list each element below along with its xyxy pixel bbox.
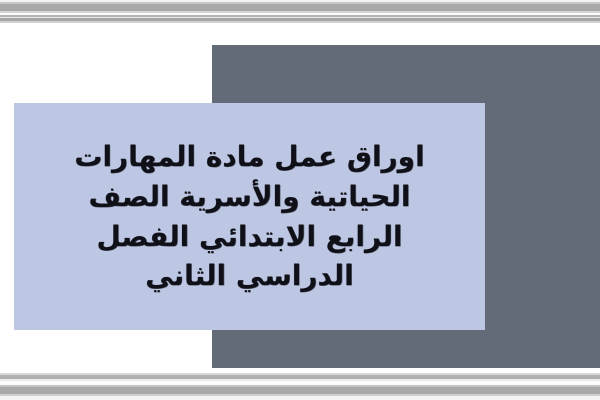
title-line-3: الرابع الابتدائي الفصل: [40, 217, 460, 257]
top-striped-border: [0, 0, 600, 24]
title-line-2: الحياتية والأسرية الصف: [40, 177, 460, 217]
title-line-4: الدراسي الثاني: [40, 256, 460, 296]
worksheet-title-block: اوراق عمل مادة المهارات الحياتية والأسري…: [32, 137, 468, 296]
slide-canvas: اوراق عمل مادة المهارات الحياتية والأسري…: [0, 0, 600, 400]
periwinkle-title-card: اوراق عمل مادة المهارات الحياتية والأسري…: [14, 103, 485, 330]
title-line-1: اوراق عمل مادة المهارات: [40, 137, 460, 177]
